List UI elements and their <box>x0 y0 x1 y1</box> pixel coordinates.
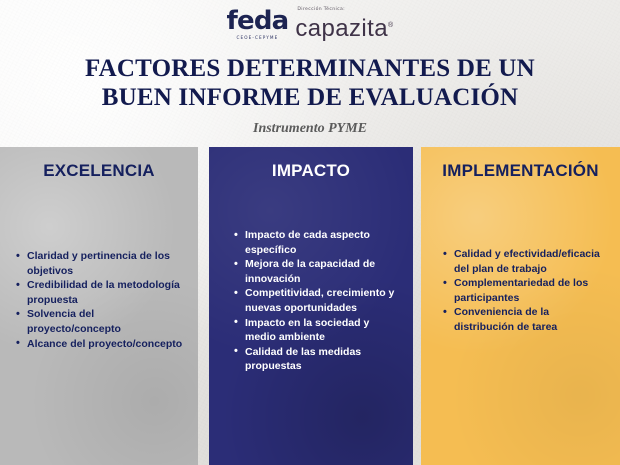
registered-mark-icon: ® <box>388 22 394 29</box>
page-subtitle: Instrumento PYME <box>0 119 620 139</box>
list-item: Impacto en la sociedad y medio ambiente <box>232 316 403 345</box>
column-impacto: IMPACTO Impacto de cada aspecto específi… <box>209 147 413 465</box>
column-heading-impacto: IMPACTO <box>209 160 413 182</box>
logo-band: feda CEOE-CEPYME Dirección Técnica: capa… <box>0 4 620 50</box>
capazita-kicker: Dirección Técnica: <box>297 6 345 13</box>
list-item: Solvencia del proyecto/concepto <box>14 307 189 336</box>
slide-canvas: feda CEOE-CEPYME Dirección Técnica: capa… <box>0 0 620 465</box>
list-item: Credibilidad de la metodología propuesta <box>14 278 189 307</box>
capazita-logo: Dirección Técnica: capazita® <box>295 4 393 41</box>
column-implementacion: IMPLEMENTACIÓN Calidad y efectividad/efi… <box>421 147 620 465</box>
list-item: Alcance del proyecto/concepto <box>14 337 189 352</box>
list-item: Impacto de cada aspecto específico <box>232 228 403 257</box>
bullet-list-impacto: Impacto de cada aspecto específico Mejor… <box>232 228 403 374</box>
capazita-wordmark-text: capazita <box>295 15 388 42</box>
title-block: FACTORES DETERMINANTES DE UN BUEN INFORM… <box>0 54 620 139</box>
list-item: Calidad de las medidas propuestas <box>232 345 403 374</box>
feda-logo: feda CEOE-CEPYME <box>226 4 288 41</box>
bullet-list-implementacion: Calidad y efectividad/eficacia del plan … <box>441 247 612 335</box>
list-item: Claridad y pertinencia de los objetivos <box>14 249 189 278</box>
list-item: Calidad y efectividad/eficacia del plan … <box>441 247 612 276</box>
list-item: Complementariedad de los participantes <box>441 276 612 305</box>
column-excelencia: EXCELENCIA Claridad y pertinencia de los… <box>0 147 198 465</box>
bullet-list-excelencia: Claridad y pertinencia de los objetivos … <box>14 249 189 351</box>
column-heading-excelencia: EXCELENCIA <box>0 160 198 182</box>
feda-tagline: CEOE-CEPYME <box>236 35 278 41</box>
page-title-line-1: FACTORES DETERMINANTES DE UN <box>0 54 620 83</box>
capazita-wordmark: capazita® <box>295 13 393 41</box>
column-heading-implementacion: IMPLEMENTACIÓN <box>421 160 620 182</box>
list-item: Mejora de la capacidad de innovación <box>232 257 403 286</box>
list-item: Conveniencia de la distribución de tarea <box>441 305 612 334</box>
page-title-line-2: BUEN INFORME DE EVALUACIÓN <box>0 83 620 112</box>
feda-wordmark: feda <box>226 8 288 34</box>
columns-container: EXCELENCIA Claridad y pertinencia de los… <box>0 147 620 465</box>
list-item: Competitividad, crecimiento y nuevas opo… <box>232 286 403 315</box>
